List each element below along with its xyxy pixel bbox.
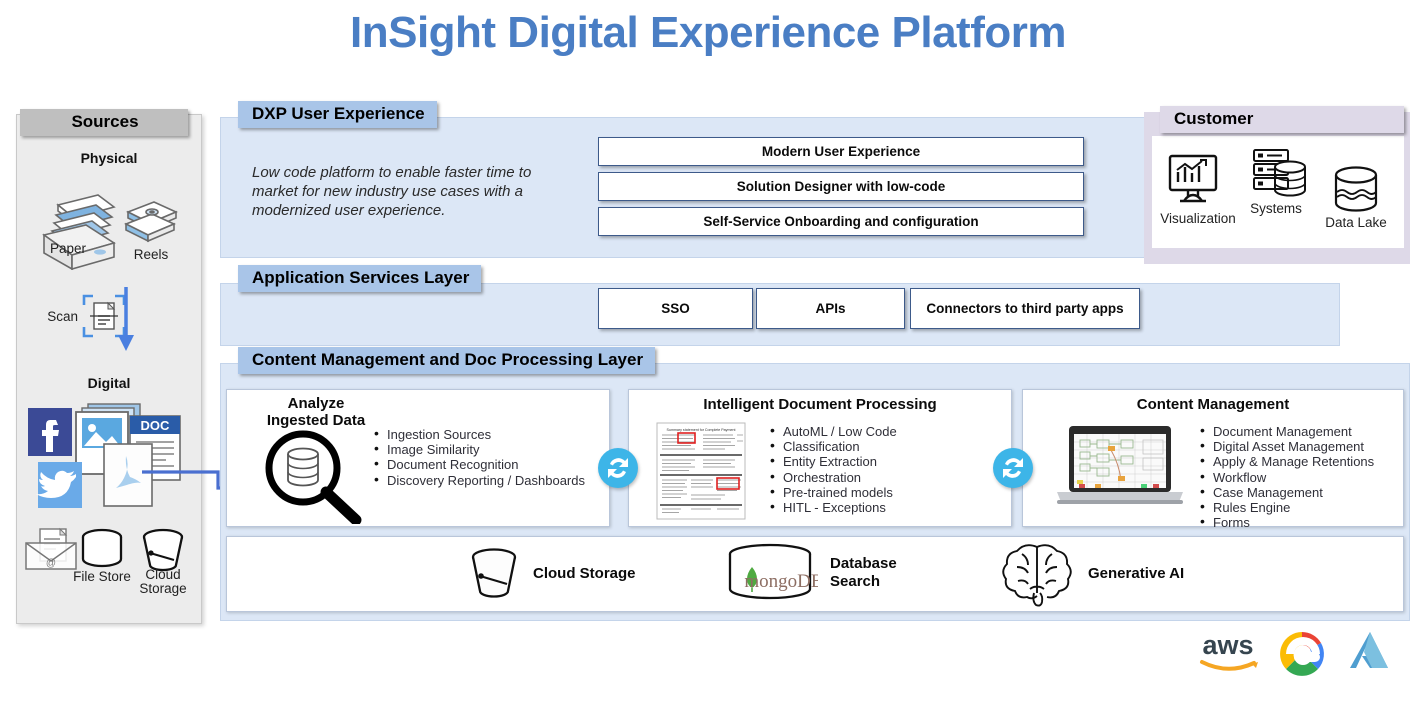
- app-services-layer-header: Application Services Layer: [238, 265, 481, 292]
- analyze-card-title: Analyze Ingested Data: [246, 395, 386, 429]
- database-search-row-label: Database Search: [830, 555, 897, 591]
- sources-header: Sources: [20, 109, 188, 136]
- list-item: Forms: [1200, 515, 1410, 530]
- data-lake-label: Data Lake: [1310, 216, 1402, 230]
- list-item: Classification: [770, 439, 990, 454]
- svg-text:aws: aws: [1202, 630, 1253, 660]
- cm-bullets: Document Management Digital Asset Manage…: [1200, 424, 1410, 530]
- content-layer-header: Content Management and Doc Processing La…: [238, 347, 655, 374]
- database-search-line1: Database: [830, 555, 897, 572]
- sync-icon-2: [993, 448, 1033, 488]
- list-item: Orchestration: [770, 470, 990, 485]
- database-search-line2: Search: [830, 573, 880, 590]
- file-store-label: File Store: [72, 570, 132, 584]
- data-lake-icon: [1330, 165, 1382, 215]
- list-item: Image Similarity: [374, 442, 602, 457]
- dxp-box-self-service-onboarding[interactable]: Self-Service Onboarding and configuratio…: [598, 207, 1084, 236]
- azure-logo: [1350, 632, 1388, 668]
- cloud-storage-label: Cloud Storage: [130, 568, 196, 596]
- svg-text:DOC: DOC: [141, 418, 171, 433]
- scan-label: Scan: [30, 310, 78, 324]
- mongodb-icon: mongoDB: [722, 543, 818, 605]
- dxp-box-modern-ux[interactable]: Modern User Experience: [598, 137, 1084, 166]
- dxp-description: Low code platform to enable faster time …: [252, 163, 572, 220]
- physical-section-label: Physical: [16, 150, 202, 166]
- reels-icon: [120, 196, 182, 248]
- idp-card-title: Intelligent Document Processing: [636, 396, 1004, 413]
- customer-header: Customer: [1160, 106, 1404, 133]
- paper-box-icon: [28, 185, 124, 270]
- brain-icon: [1000, 541, 1074, 609]
- magnifier-database-icon: [258, 428, 368, 524]
- list-item: Pre-trained models: [770, 485, 990, 500]
- list-item: Case Management: [1200, 485, 1410, 500]
- list-item: Workflow: [1200, 470, 1410, 485]
- page-title: InSight Digital Experience Platform: [0, 8, 1416, 58]
- file-store-icon: [78, 525, 126, 573]
- analyze-bullets: Ingestion Sources Image Similarity Docum…: [374, 427, 602, 488]
- systems-label: Systems: [1240, 202, 1312, 216]
- generative-ai-row-label: Generative AI: [1088, 565, 1184, 583]
- list-item: Ingestion Sources: [374, 427, 602, 442]
- document-form-icon: Summary statement for Complete Payment: [655, 421, 747, 521]
- list-item: Document Recognition: [374, 457, 602, 472]
- dxp-layer-header: DXP User Experience: [238, 101, 437, 128]
- svg-text:mongoDB: mongoDB: [744, 571, 818, 592]
- cm-card-title: Content Management: [1030, 396, 1396, 413]
- app-box-connectors[interactable]: Connectors to third party apps: [910, 288, 1140, 329]
- app-box-apis[interactable]: APIs: [756, 288, 905, 329]
- aws-logo: aws: [1202, 630, 1258, 669]
- analyze-title-line2: Ingested Data: [267, 412, 365, 429]
- paper-label: Paper: [40, 242, 96, 256]
- laptop-workflow-icon: [1055, 424, 1185, 510]
- app-box-sso[interactable]: SSO: [598, 288, 753, 329]
- digital-section-label: Digital: [16, 375, 202, 391]
- analyze-title-line1: Analyze: [288, 395, 345, 412]
- list-item: AutoML / Low Code: [770, 424, 990, 439]
- visualization-monitor-icon: [1164, 152, 1222, 206]
- list-item: Document Management: [1200, 424, 1410, 439]
- list-item: Digital Asset Management: [1200, 439, 1410, 454]
- cloud-storage-row-label: Cloud Storage: [533, 565, 636, 583]
- svg-text:@: @: [46, 558, 56, 569]
- cloud-provider-logos: aws: [1190, 626, 1405, 682]
- svg-text:Summary statement for Complete: Summary statement for Complete Payment: [667, 428, 736, 432]
- idp-bullets: AutoML / Low Code Classification Entity …: [770, 424, 990, 515]
- list-item: Discovery Reporting / Dashboards: [374, 473, 602, 488]
- list-item: HITL - Exceptions: [770, 500, 990, 515]
- systems-server-icon: [1252, 148, 1308, 202]
- email-icon: @: [22, 525, 80, 573]
- visualization-label: Visualization: [1150, 212, 1246, 226]
- list-item: Apply & Manage Retentions: [1200, 454, 1410, 469]
- list-item: Rules Engine: [1200, 500, 1410, 515]
- sync-icon-1: [598, 448, 638, 488]
- reels-label: Reels: [120, 248, 182, 262]
- file-store-label-text: File Store: [73, 569, 131, 584]
- flow-arrow-down: [112, 285, 140, 353]
- list-item: Entity Extraction: [770, 454, 990, 469]
- cloud-storage-bucket-icon: [466, 546, 522, 602]
- google-cloud-logo: [1280, 632, 1324, 676]
- dxp-box-solution-designer[interactable]: Solution Designer with low-code: [598, 172, 1084, 201]
